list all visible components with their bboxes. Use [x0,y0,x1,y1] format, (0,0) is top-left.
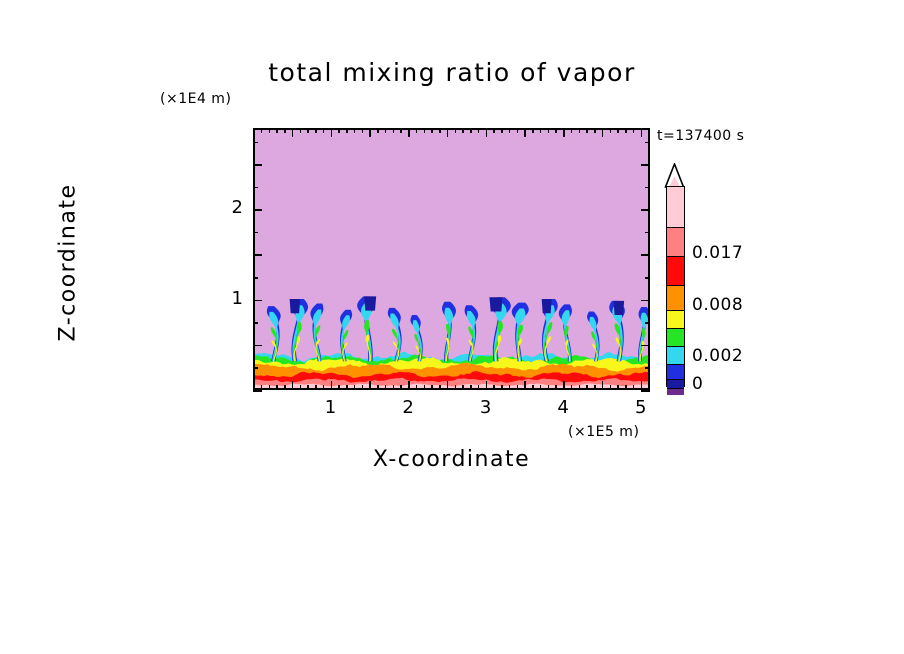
x-tick-bottom [346,385,348,390]
y-tick-left [253,254,262,256]
x-tick-bottom [393,385,395,390]
x-tick-top [393,128,395,133]
x-tick-bottom [276,385,278,390]
x-tick-bottom [253,381,255,390]
x-tick-top [416,128,418,133]
x-tick-bottom [470,385,472,390]
contour-band [614,301,625,315]
colorbar-band [667,286,684,311]
x-tick-top [548,128,550,133]
y-tick-right [641,345,650,347]
x-tick-top [633,128,635,133]
colorbar-tick-label: 0.017 [692,243,743,263]
x-tick-top [439,128,441,133]
x-tick-top [579,128,581,133]
x-tick-top [292,128,294,137]
y-tick-right [641,209,650,211]
x-tick-bottom [486,381,488,390]
x-tick-top [315,128,317,133]
x-tick-top [276,128,278,133]
x-tick-bottom [501,385,503,390]
x-tick-bottom [540,385,542,390]
x-tick-top [269,128,271,133]
x-tick-bottom [269,385,271,390]
x-tick-top [354,128,356,133]
x-tick-top [455,128,457,133]
x-tick-top [431,128,433,133]
time-annotation: t=137400 s [657,128,744,144]
x-tick-top [346,128,348,133]
y-axis-title: Z-coordinate [56,153,81,373]
x-tick-bottom [431,385,433,390]
x-tick-bottom [563,381,565,390]
x-tick-top [532,128,534,133]
colorbar-band [667,347,684,365]
plot-area [253,128,650,390]
x-tick-bottom [315,385,317,390]
x-tick-bottom [385,385,387,390]
x-tick-bottom [439,385,441,390]
x-tick-top [641,128,643,137]
x-tick-top [338,128,340,133]
x-tick-bottom [571,385,573,390]
colorbar-tick-label: 0 [692,374,703,394]
x-tick-top [594,128,596,133]
colorbar-arrow-icon [664,163,685,188]
x-tick-top [648,128,650,133]
x-tick-bottom [455,385,457,390]
x-tick-top [555,128,557,133]
y-tick-left [253,232,258,234]
x-tick-bottom [447,381,449,390]
x-tick-bottom [555,385,557,390]
contour-band [542,299,552,313]
colorbar-band [667,329,684,347]
y-tick-left [253,322,258,324]
y-tick-right [645,187,650,189]
y-tick-label: 1 [221,288,243,309]
x-tick-top [424,128,426,133]
x-tick-top [524,128,526,137]
contour-band [290,299,301,313]
x-tick-bottom [377,385,379,390]
colorbar-band [667,311,684,329]
y-tick-left [253,209,262,211]
x-tick-bottom [617,385,619,390]
x-tick-top [586,128,588,133]
x-tick-top [571,128,573,133]
x-tick-bottom [610,385,612,390]
x-tick-bottom [579,385,581,390]
x-tick-top [385,128,387,133]
y-tick-left [253,367,258,369]
y-tick-left [253,390,262,392]
x-tick-top [284,128,286,133]
x-tick-bottom [517,385,519,390]
y-tick-right [641,254,650,256]
x-tick-top [261,128,263,133]
x-tick-bottom [548,385,550,390]
x-tick-top [377,128,379,133]
y-tick-left [253,164,262,166]
x-tick-bottom [362,385,364,390]
x-tick-top [501,128,503,133]
contour-band [269,312,278,361]
x-tick-top [462,128,464,133]
x-tick-top [617,128,619,133]
y-tick-left [253,187,258,189]
x-tick-label: 1 [316,397,346,418]
x-tick-bottom [462,385,464,390]
colorbar-tick-label: 0.008 [692,295,743,315]
colorbar [666,186,685,387]
x-tick-top [470,128,472,133]
y-tick-right [641,164,650,166]
y-tick-right [641,390,650,392]
x-tick-top [610,128,612,133]
x-tick-bottom [478,385,480,390]
y-tick-left [253,300,262,302]
x-tick-top [408,128,410,137]
x-tick-top [486,128,488,137]
y-tick-label: 2 [221,197,243,218]
y-axis-unit-label: (×1E4 m) [160,91,231,107]
y-tick-right [645,322,650,324]
y-tick-left [253,277,258,279]
x-tick-top [602,128,604,137]
x-tick-bottom [524,381,526,390]
x-tick-bottom [416,385,418,390]
contour-band [489,297,502,311]
x-tick-top [323,128,325,133]
x-tick-bottom [509,385,511,390]
colorbar-band [667,389,684,395]
x-tick-bottom [354,385,356,390]
x-tick-top [331,128,333,137]
x-tick-bottom [338,385,340,390]
x-tick-bottom [300,385,302,390]
y-tick-left [253,142,258,144]
x-tick-top [563,128,565,137]
x-tick-bottom [408,381,410,390]
y-tick-left [253,345,262,347]
contour-field [255,130,648,388]
contour-band [364,296,376,310]
x-tick-top [447,128,449,137]
x-tick-bottom [493,385,495,390]
x-tick-top [307,128,309,133]
x-tick-top [400,128,402,133]
x-tick-top [509,128,511,133]
figure-canvas: total mixing ratio of vapor (×1E4 m) t=1… [0,0,904,654]
x-tick-bottom [633,385,635,390]
x-tick-bottom [331,381,333,390]
x-tick-bottom [284,385,286,390]
x-tick-top [540,128,542,133]
y-tick-right [645,367,650,369]
x-tick-top [362,128,364,133]
x-tick-bottom [292,381,294,390]
x-tick-top [493,128,495,133]
x-tick-bottom [369,381,371,390]
x-tick-bottom [532,385,534,390]
x-axis-unit-label: (×1E5 m) [568,424,639,440]
x-axis-title: X-coordinate [253,447,650,472]
x-tick-bottom [424,385,426,390]
x-tick-label: 3 [471,397,501,418]
x-tick-bottom [641,381,643,390]
x-tick-top [253,128,255,137]
x-tick-bottom [586,385,588,390]
y-tick-right [645,277,650,279]
y-tick-right [641,300,650,302]
x-tick-top [369,128,371,137]
y-tick-right [645,232,650,234]
x-tick-bottom [625,385,627,390]
x-tick-label: 2 [393,397,423,418]
colorbar-band [667,228,684,257]
x-tick-top [300,128,302,133]
x-tick-bottom [400,385,402,390]
colorbar-tick-label: 0.002 [692,346,743,366]
colorbar-band [667,187,684,228]
x-tick-bottom [594,385,596,390]
x-tick-top [517,128,519,133]
x-tick-top [625,128,627,133]
colorbar-band [667,257,684,286]
y-tick-right [645,142,650,144]
colorbar-band [667,380,684,389]
x-tick-label: 5 [626,397,656,418]
x-tick-bottom [602,381,604,390]
x-tick-top [478,128,480,133]
page-title: total mixing ratio of vapor [0,58,904,87]
x-tick-bottom [307,385,309,390]
colorbar-band [667,365,684,380]
x-tick-label: 4 [548,397,578,418]
x-tick-bottom [323,385,325,390]
